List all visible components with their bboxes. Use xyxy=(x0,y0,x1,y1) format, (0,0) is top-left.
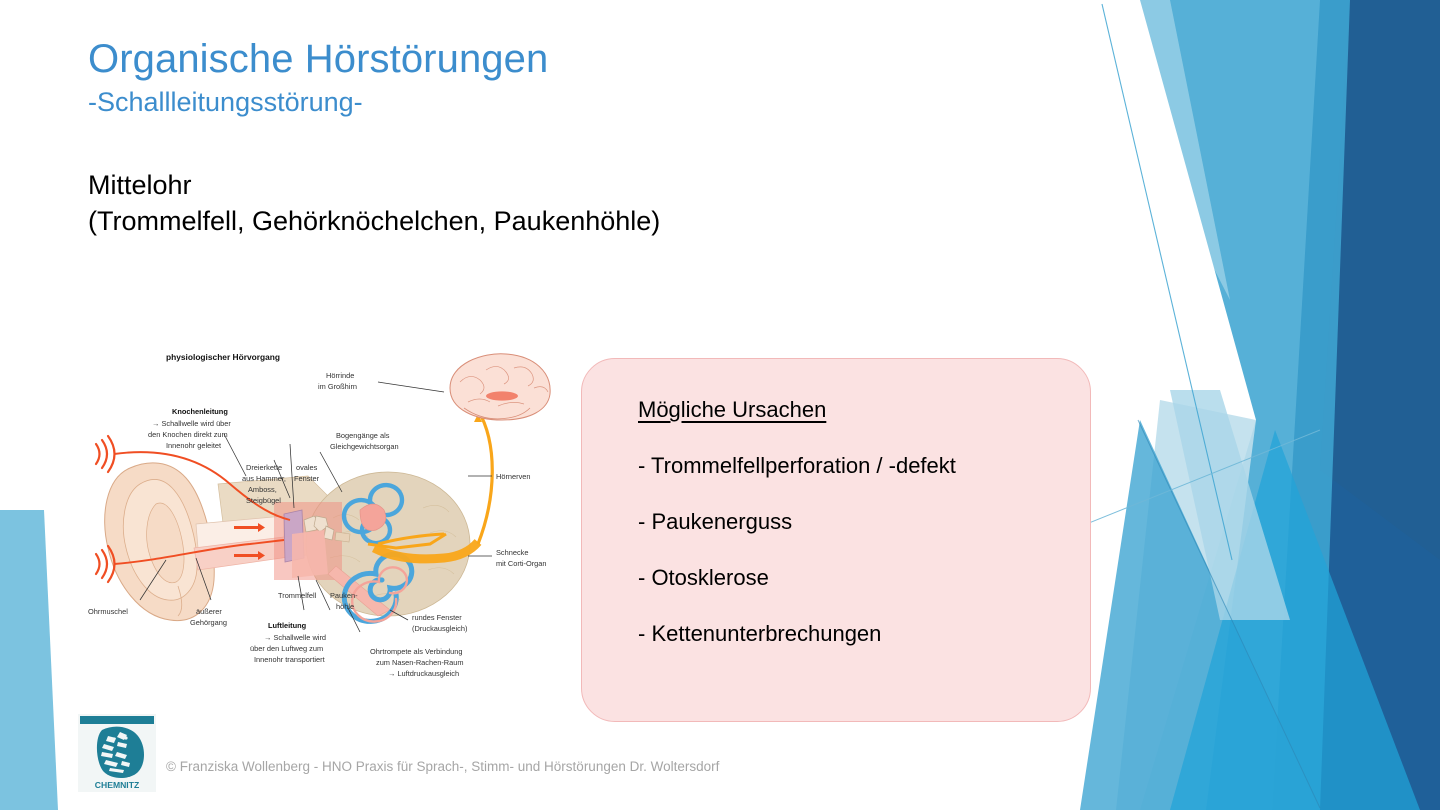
callout-item-2: - Paukenerguss xyxy=(638,509,1060,535)
ear-anatomy-diagram: .dl{font-family:"Liberation Sans",sans-s… xyxy=(78,348,588,708)
label-bogengaenge-l2: Gleichgewichtsorgan xyxy=(330,442,399,451)
callout-item-4: - Kettenunterbrechungen xyxy=(638,621,1060,647)
label-knochenleitung-l1: → Schallwelle wird über xyxy=(152,419,231,428)
label-luftleitung-l1: → Schallwelle wird xyxy=(264,633,326,642)
label-schnecke-l2: mit Corti-Organ xyxy=(496,559,547,568)
label-paukenhoehle-l1: Pauken- xyxy=(330,591,358,600)
label-ohrtrompete-l1: Ohrtrompete als Verbindung xyxy=(370,647,462,656)
label-paukenhoehle-l2: höhle xyxy=(336,602,354,611)
callout-item-3: - Otosklerose xyxy=(638,565,1060,591)
label-luftleitung-l2: über den Luftweg zum xyxy=(250,644,323,653)
label-schnecke-l1: Schnecke xyxy=(496,548,528,557)
label-ovales-fenster-l2: Fenster xyxy=(294,474,320,483)
label-knochenleitung-title: Knochenleitung xyxy=(172,407,228,416)
label-hoernerven: Hörnerven xyxy=(496,472,531,481)
label-ohrmuschel: Ohrmuschel xyxy=(88,607,128,616)
label-rundes-fenster-l1: rundes Fenster xyxy=(412,613,462,622)
slide-canvas: Organische Hörstörungen -Schallleitungss… xyxy=(0,0,1440,810)
footer-copyright: © Franziska Wollenberg - HNO Praxis für … xyxy=(166,759,719,774)
logo-caption: CHEMNITZ xyxy=(95,780,139,790)
label-luftleitung-title: Luftleitung xyxy=(268,621,307,630)
label-rundes-fenster-l2: (Druckausgleich) xyxy=(412,624,467,633)
causes-callout-box: Mögliche Ursachen - Trommelfellperforati… xyxy=(581,358,1091,722)
label-dreierkette-l2: aus Hammer, xyxy=(242,474,286,483)
callout-item-1: - Trommelfellperforation / -defekt xyxy=(638,453,1060,479)
body-line-mittelohr: Mittelohr xyxy=(88,168,908,204)
label-ohrtrompete-l2: zum Nasen-Rachen-Raum xyxy=(376,658,464,667)
body-text-block: Mittelohr (Trommelfell, Gehörknöchelchen… xyxy=(88,168,908,240)
label-knochenleitung-l3: Innenohr geleitet xyxy=(166,441,221,450)
chemnitz-logo: CHEMNITZ xyxy=(78,714,156,792)
label-bogengaenge-l1: Bogengänge als xyxy=(336,431,390,440)
callout-content: Mögliche Ursachen - Trommelfellperforati… xyxy=(582,359,1090,647)
label-gehoergang-l1: äußerer xyxy=(196,607,222,616)
callout-heading: Mögliche Ursachen xyxy=(638,397,1060,423)
body-line-structures: (Trommelfell, Gehörknöchelchen, Paukenhö… xyxy=(88,204,908,240)
label-trommelfell: Trommelfell xyxy=(278,591,317,600)
label-ovales-fenster-l1: ovales xyxy=(296,463,318,472)
label-dreierkette-l1: Dreierkette xyxy=(246,463,282,472)
page-subtitle: -Schallleitungsstörung- xyxy=(88,84,848,120)
label-luftleitung-l3: Innenohr transportiert xyxy=(254,655,325,664)
label-knochenleitung-l2: den Knochen direkt zum xyxy=(148,430,228,439)
label-ohrtrompete-l3: → Luftdruckausgleich xyxy=(388,669,459,678)
label-hoerrinde-l2: im Großhirn xyxy=(318,382,357,391)
label-hoerrinde-l1: Hörrinde xyxy=(326,371,354,380)
label-dreierkette-l4: Steigbügel xyxy=(246,496,281,505)
label-dreierkette-l3: Amboss, xyxy=(248,485,277,494)
title-block: Organische Hörstörungen -Schallleitungss… xyxy=(88,38,848,120)
page-title: Organische Hörstörungen xyxy=(88,38,848,80)
diagram-caption: physiologischer Hörvorgang xyxy=(166,352,280,362)
label-gehoergang-l2: Gehörgang xyxy=(190,618,227,627)
